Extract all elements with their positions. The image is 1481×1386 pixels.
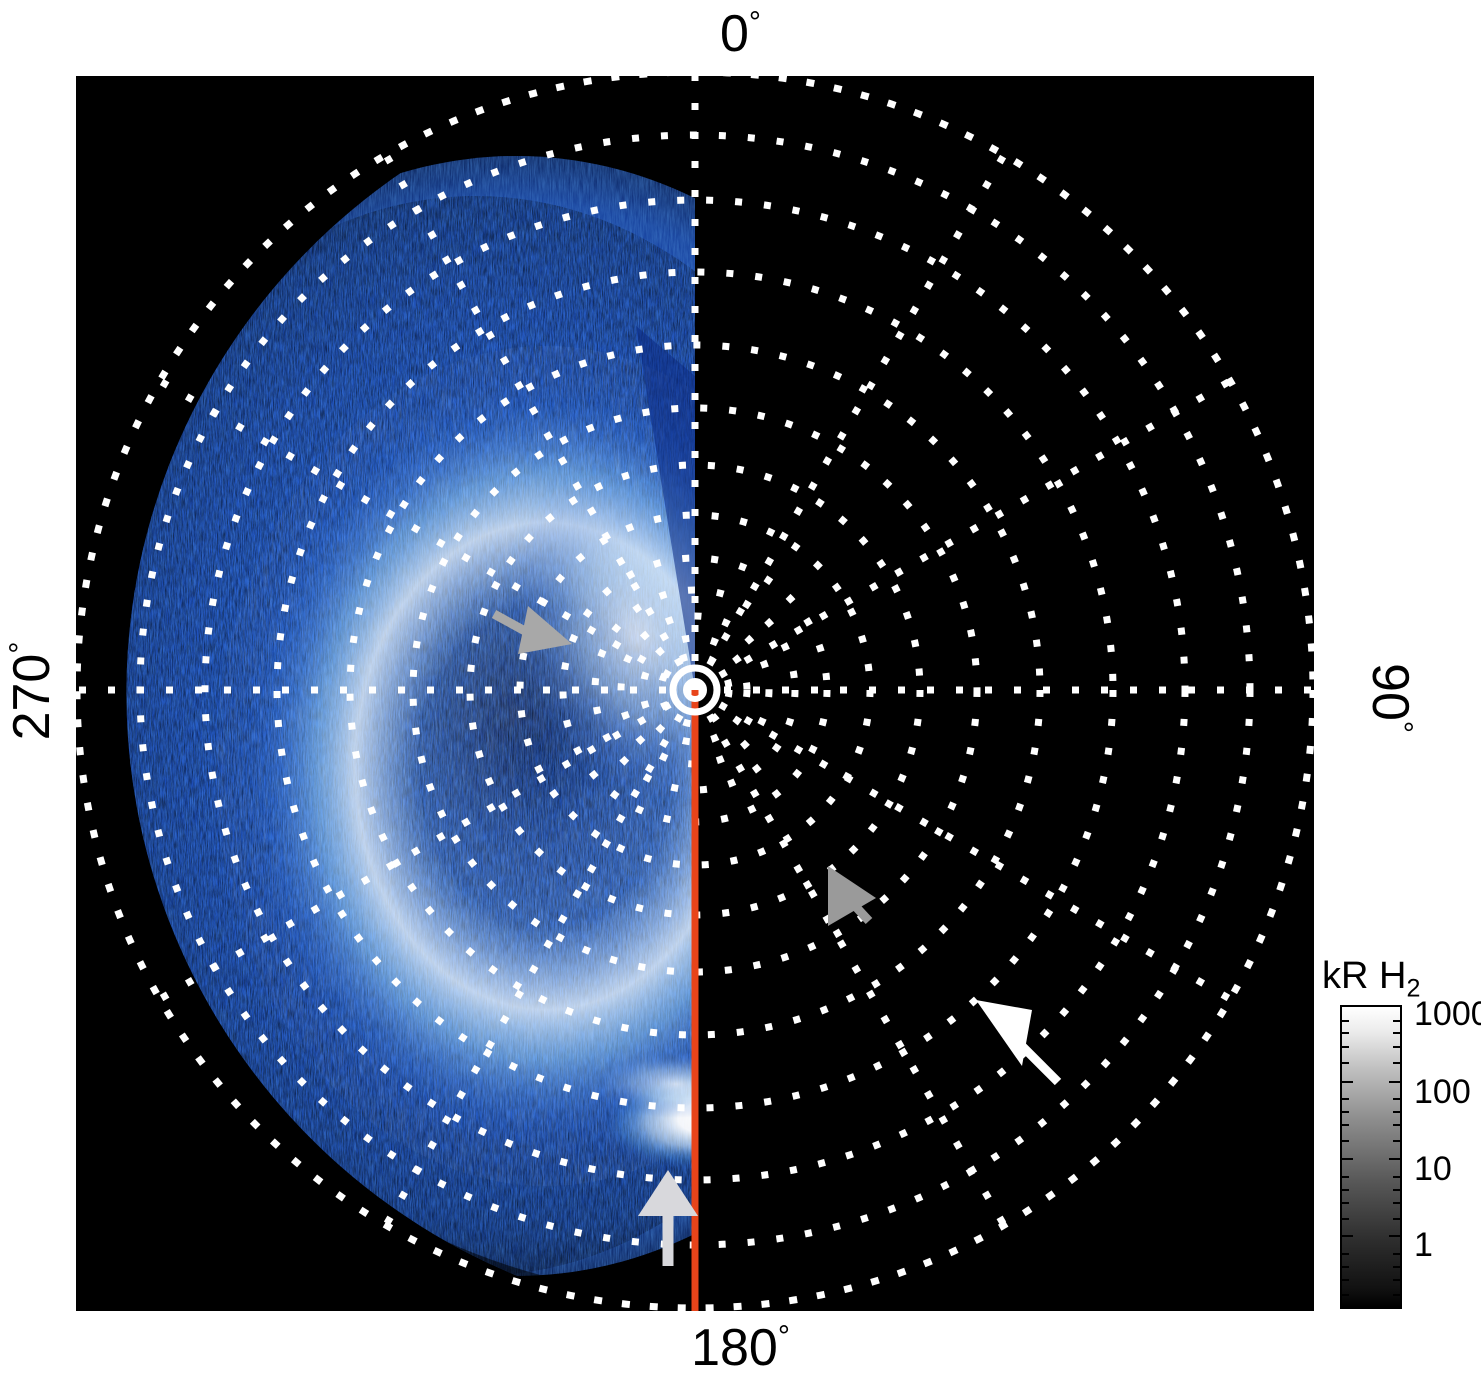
axis-label-180deg: 180°	[0, 1322, 1481, 1374]
axis-label-90deg: 90°	[1364, 608, 1416, 788]
colorbar-tick-label-1000: 1000	[1414, 997, 1481, 1031]
colorbar-tick-label-1: 1	[1414, 1228, 1433, 1262]
colorbar-tick-label-100: 100	[1414, 1075, 1471, 1109]
figure-root: 0° 180° 270° 90° kR H2	[0, 0, 1481, 1386]
colorbar-title: kR H2	[1322, 955, 1420, 998]
polar-plot-panel	[76, 76, 1314, 1311]
colorbar-gradient	[1340, 1005, 1402, 1309]
colorbar-minor-ticks	[1342, 1007, 1400, 1307]
axis-label-0deg: 0°	[0, 8, 1481, 60]
axis-label-270deg: 270°	[6, 601, 58, 781]
colorbar-tick-label-10: 10	[1414, 1152, 1452, 1186]
polar-projection-canvas	[76, 76, 1314, 1311]
